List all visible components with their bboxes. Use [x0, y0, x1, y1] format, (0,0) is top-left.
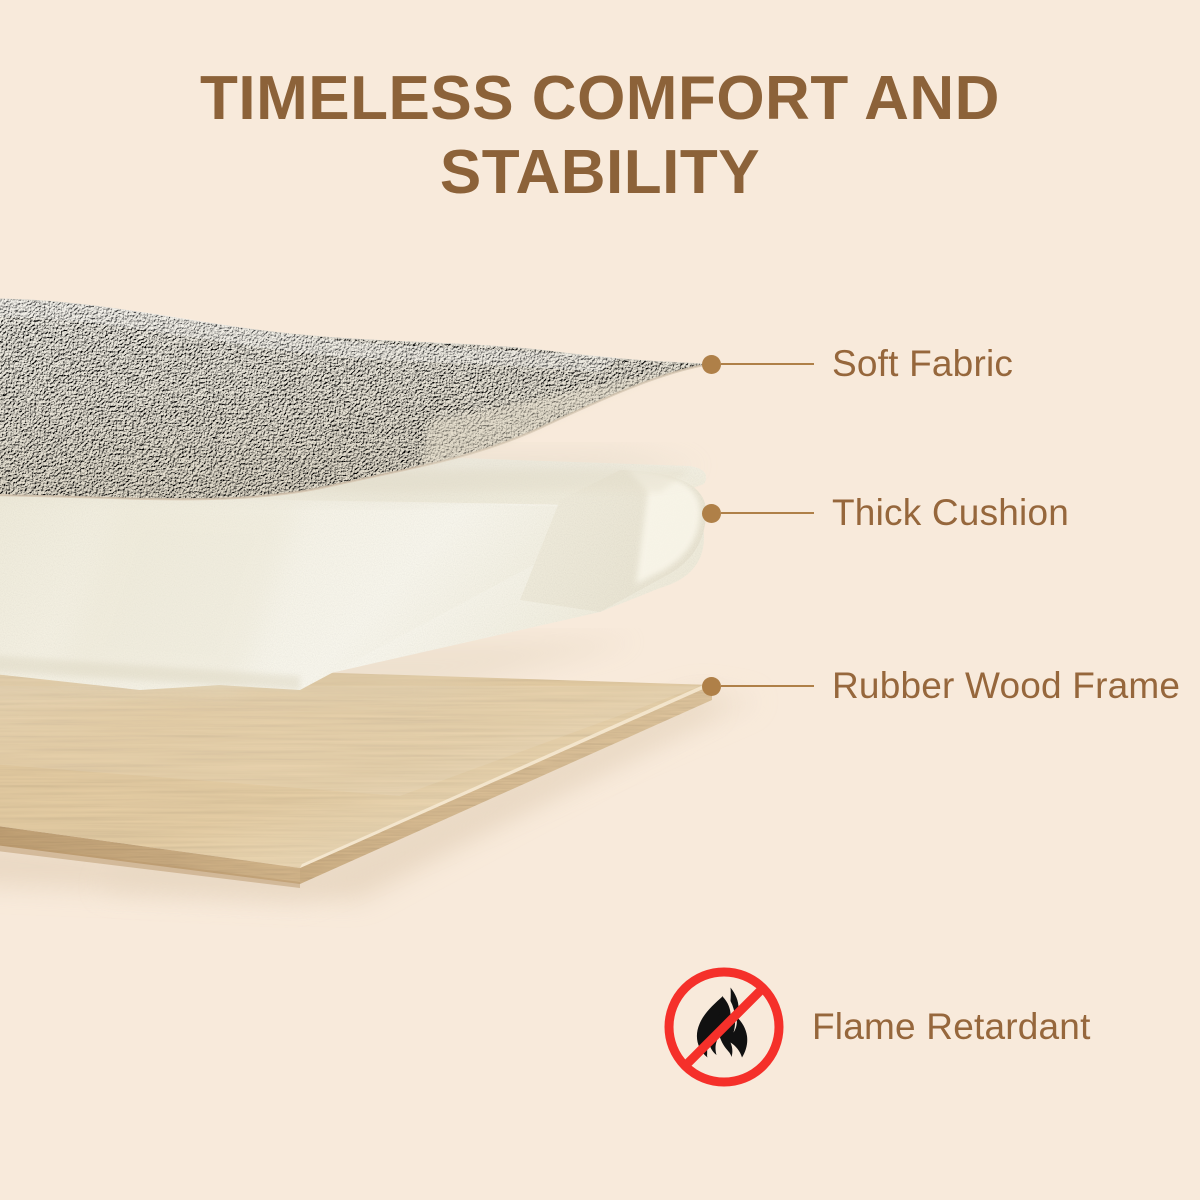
callout-label-rubber-wood-frame: Rubber Wood Frame	[832, 665, 1180, 707]
callout-rubber-wood-frame[interactable]: Rubber Wood Frame	[702, 666, 1180, 706]
fabric-texture-layer	[0, 298, 710, 500]
callout-leader-line	[721, 685, 814, 687]
flame-retardant-badge[interactable]: Flame Retardant	[660, 963, 1091, 1091]
infographic-canvas: TIMELESS COMFORT AND STABILITY	[0, 0, 1200, 1200]
callout-label-soft-fabric: Soft Fabric	[832, 343, 1013, 385]
callout-dot-icon	[702, 355, 721, 374]
callout-soft-fabric[interactable]: Soft Fabric	[702, 344, 1013, 384]
callout-dot-icon	[702, 504, 721, 523]
callout-thick-cushion[interactable]: Thick Cushion	[702, 493, 1069, 533]
no-flame-icon	[660, 963, 788, 1091]
badge-label: Flame Retardant	[812, 1006, 1091, 1048]
callout-leader-line	[721, 363, 814, 365]
callout-dot-icon	[702, 677, 721, 696]
callout-label-thick-cushion: Thick Cushion	[832, 492, 1069, 534]
callout-leader-line	[721, 512, 814, 514]
